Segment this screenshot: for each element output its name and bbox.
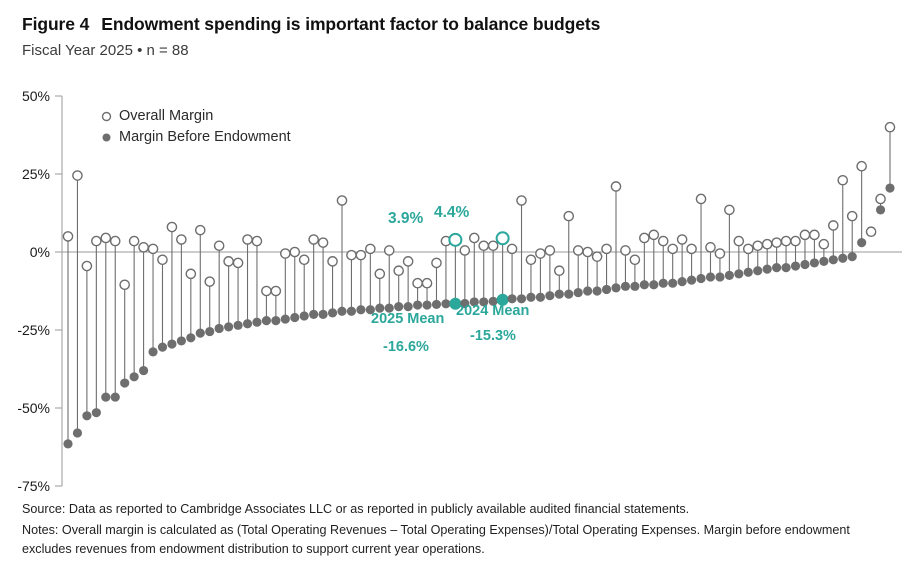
highlighted-overall-margin-point bbox=[449, 234, 461, 246]
margin-before-endowment-point bbox=[177, 336, 186, 345]
overall-margin-point bbox=[885, 123, 894, 132]
margin-before-endowment-point bbox=[262, 316, 271, 325]
y-axis-tick-label: -25% bbox=[17, 322, 50, 338]
overall-margin-point bbox=[800, 230, 809, 239]
annotation-2024-mean-value: -15.3% bbox=[470, 328, 516, 344]
overall-margin-point bbox=[725, 205, 734, 214]
overall-margin-point bbox=[422, 279, 431, 288]
figure-subtitle: Fiscal Year 2025 • n = 88 bbox=[22, 42, 902, 59]
overall-margin-point bbox=[848, 212, 857, 221]
overall-margin-point bbox=[319, 238, 328, 247]
overall-margin-point bbox=[517, 196, 526, 205]
overall-margin-point bbox=[92, 236, 101, 245]
overall-margin-point bbox=[678, 235, 687, 244]
annotation-2025-mean-value: -16.6% bbox=[383, 339, 429, 355]
margin-before-endowment-point bbox=[611, 283, 620, 292]
overall-margin-point bbox=[300, 255, 309, 264]
margin-before-endowment-point bbox=[687, 275, 696, 284]
overall-margin-point bbox=[63, 232, 72, 241]
overall-margin-point bbox=[819, 240, 828, 249]
source-note: Source: Data as reported to Cambridge As… bbox=[22, 500, 894, 520]
overall-margin-point bbox=[347, 251, 356, 260]
margin-before-endowment-point bbox=[838, 254, 847, 263]
margin-before-endowment-point bbox=[583, 286, 592, 295]
margin-before-endowment-point bbox=[555, 290, 564, 299]
highlighted-overall-margin-point bbox=[497, 232, 509, 244]
margin-before-endowment-point bbox=[441, 299, 450, 308]
margin-before-endowment-point bbox=[309, 310, 318, 319]
margin-before-endowment-point bbox=[593, 286, 602, 295]
overall-margin-point bbox=[734, 236, 743, 245]
margin-before-endowment-point bbox=[848, 252, 857, 261]
margin-before-endowment-point bbox=[196, 329, 205, 338]
overall-margin-point bbox=[715, 249, 724, 258]
overall-margin-point bbox=[555, 266, 564, 275]
margin-before-endowment-point bbox=[696, 274, 705, 283]
filled-circle-icon bbox=[98, 132, 114, 143]
annotation-2024-mean-title: 2024 Mean bbox=[456, 303, 529, 319]
margin-before-endowment-point bbox=[602, 285, 611, 294]
overall-margin-point bbox=[574, 246, 583, 255]
overall-margin-point bbox=[252, 236, 261, 245]
overall-margin-point bbox=[753, 241, 762, 250]
margin-before-endowment-point bbox=[791, 261, 800, 270]
overall-margin-point bbox=[696, 194, 705, 203]
margin-before-endowment-point bbox=[753, 266, 762, 275]
margin-before-endowment-point bbox=[347, 307, 356, 316]
overall-margin-point bbox=[668, 244, 677, 253]
overall-margin-point bbox=[649, 230, 658, 239]
y-axis-tick-label: -50% bbox=[17, 400, 50, 416]
margin-before-endowment-point bbox=[130, 372, 139, 381]
overall-margin-point bbox=[328, 257, 337, 266]
overall-margin-point bbox=[507, 244, 516, 253]
overall-margin-point bbox=[763, 240, 772, 249]
methodology-note: Notes: Overall margin is calculated as (… bbox=[22, 521, 894, 560]
y-axis: 50%25%0%-25%-50%-75% bbox=[17, 88, 62, 494]
margin-before-endowment-point bbox=[630, 282, 639, 291]
margin-before-endowment-point bbox=[668, 279, 677, 288]
overall-margin-point bbox=[148, 244, 157, 253]
overall-margin-point bbox=[526, 255, 535, 264]
margin-before-endowment-point bbox=[186, 333, 195, 342]
overall-margin-point bbox=[309, 235, 318, 244]
margin-before-endowment-point bbox=[564, 290, 573, 299]
margin-before-endowment-point bbox=[271, 316, 280, 325]
open-circle-icon bbox=[98, 111, 114, 122]
overall-margin-point bbox=[460, 246, 469, 255]
chart-legend: Overall Margin Margin Before Endowment bbox=[98, 106, 291, 148]
annotation-2025-overall-margin-value: 3.9% bbox=[388, 210, 423, 228]
overall-margin-point bbox=[139, 243, 148, 252]
y-axis-tick-label: 25% bbox=[22, 166, 50, 182]
overall-margin-point bbox=[271, 286, 280, 295]
overall-margin-point bbox=[356, 251, 365, 260]
margin-before-endowment-point bbox=[404, 302, 413, 311]
figure-header: Figure 4Endowment spending is important … bbox=[22, 14, 902, 59]
margin-before-endowment-point bbox=[526, 293, 535, 302]
legend-item-margin-before-endowment: Margin Before Endowment bbox=[98, 127, 291, 148]
overall-margin-point bbox=[810, 230, 819, 239]
margin-before-endowment-point bbox=[810, 258, 819, 267]
margin-before-endowment-point bbox=[111, 392, 120, 401]
overall-margin-point bbox=[630, 255, 639, 264]
overall-margin-point bbox=[337, 196, 346, 205]
overall-margin-point bbox=[687, 244, 696, 253]
overall-margin-point bbox=[130, 236, 139, 245]
overall-margin-point bbox=[867, 227, 876, 236]
overall-margin-point bbox=[583, 247, 592, 256]
margin-before-endowment-point bbox=[800, 260, 809, 269]
margin-before-endowment-point bbox=[120, 378, 129, 387]
overall-margin-point bbox=[706, 243, 715, 252]
overall-margin-point bbox=[621, 246, 630, 255]
margin-before-endowment-point bbox=[328, 308, 337, 317]
margin-before-endowment-point bbox=[734, 269, 743, 278]
y-axis-tick-label: 50% bbox=[22, 88, 50, 104]
margin-before-endowment-point bbox=[224, 322, 233, 331]
overall-margin-point bbox=[215, 241, 224, 250]
overall-margin-point bbox=[73, 171, 82, 180]
margin-before-endowment-point bbox=[233, 321, 242, 330]
margin-before-endowment-point bbox=[536, 293, 545, 302]
overall-margin-point bbox=[375, 269, 384, 278]
margin-before-endowment-point bbox=[356, 305, 365, 314]
overall-margin-point bbox=[772, 238, 781, 247]
margin-before-endowment-point bbox=[63, 439, 72, 448]
figure-notes: Source: Data as reported to Cambridge As… bbox=[22, 500, 894, 561]
margin-before-endowment-point bbox=[413, 300, 422, 309]
margin-before-endowment-point bbox=[829, 255, 838, 264]
legend-label-overall-margin: Overall Margin bbox=[119, 106, 213, 127]
margin-before-endowment-point bbox=[290, 313, 299, 322]
overall-margin-point bbox=[744, 244, 753, 253]
overall-margin-point bbox=[281, 249, 290, 258]
overall-margin-point bbox=[479, 241, 488, 250]
overall-margin-point bbox=[791, 236, 800, 245]
figure-title: Endowment spending is important factor t… bbox=[101, 14, 600, 34]
margin-before-endowment-point bbox=[148, 347, 157, 356]
margin-before-endowment-point bbox=[781, 263, 790, 272]
overall-margin-point bbox=[545, 246, 554, 255]
overall-margin-point bbox=[158, 255, 167, 264]
legend-item-overall-margin: Overall Margin bbox=[98, 106, 291, 127]
margin-before-endowment-point bbox=[243, 319, 252, 328]
overall-margin-point bbox=[432, 258, 441, 267]
y-axis-tick-label: -75% bbox=[17, 478, 50, 494]
annotation-2024-overall-margin-value: 4.4% bbox=[434, 204, 469, 222]
margin-before-endowment-point bbox=[252, 318, 261, 327]
figure-number: Figure 4 bbox=[22, 14, 89, 34]
margin-before-endowment-point bbox=[574, 288, 583, 297]
overall-margin-point bbox=[829, 221, 838, 230]
margin-before-endowment-point bbox=[422, 300, 431, 309]
overall-margin-point bbox=[404, 257, 413, 266]
margin-before-endowment-point bbox=[678, 277, 687, 286]
margin-before-endowment-point bbox=[101, 392, 110, 401]
margin-before-endowment-point bbox=[215, 324, 224, 333]
margin-before-endowment-point bbox=[82, 411, 91, 420]
overall-margin-point bbox=[177, 235, 186, 244]
overall-margin-point bbox=[536, 249, 545, 258]
margin-before-endowment-point bbox=[205, 327, 214, 336]
margin-before-endowment-point bbox=[885, 183, 894, 192]
margin-before-endowment-point bbox=[300, 311, 309, 320]
margin-before-endowment-point bbox=[158, 343, 167, 352]
overall-margin-point bbox=[593, 252, 602, 261]
margin-before-endowment-point bbox=[432, 300, 441, 309]
overall-margin-point bbox=[489, 241, 498, 250]
overall-margin-point bbox=[111, 236, 120, 245]
margin-before-endowment-point bbox=[167, 339, 176, 348]
overall-margin-point bbox=[262, 286, 271, 295]
margin-before-endowment-point bbox=[763, 265, 772, 274]
overall-margin-point bbox=[611, 182, 620, 191]
overall-margin-point bbox=[120, 280, 129, 289]
overall-margin-point bbox=[82, 261, 91, 270]
margin-before-endowment-point bbox=[337, 307, 346, 316]
margin-before-endowment-point bbox=[744, 268, 753, 277]
overall-margin-point bbox=[659, 236, 668, 245]
figure-page: Figure 4Endowment spending is important … bbox=[0, 0, 912, 577]
margin-before-endowment-point bbox=[857, 238, 866, 247]
overall-margin-point bbox=[233, 258, 242, 267]
overall-margin-point bbox=[640, 233, 649, 242]
margin-before-endowment-point bbox=[876, 205, 885, 214]
margin-before-endowment-point bbox=[139, 366, 148, 375]
margin-before-endowment-point bbox=[319, 310, 328, 319]
margin-before-endowment-point bbox=[772, 263, 781, 272]
overall-margin-point bbox=[205, 277, 214, 286]
overall-margin-point bbox=[224, 257, 233, 266]
annotation-2025-mean-title: 2025 Mean bbox=[371, 311, 444, 327]
overall-margin-point bbox=[186, 269, 195, 278]
overall-margin-point bbox=[366, 244, 375, 253]
overall-margin-point bbox=[196, 226, 205, 235]
margin-before-endowment-point bbox=[394, 302, 403, 311]
margin-before-endowment-point bbox=[621, 282, 630, 291]
overall-margin-point bbox=[470, 233, 479, 242]
overall-margin-point bbox=[876, 194, 885, 203]
overall-margin-point bbox=[857, 162, 866, 171]
page-title: Figure 4Endowment spending is important … bbox=[22, 14, 902, 35]
margin-before-endowment-point bbox=[725, 271, 734, 280]
margin-before-endowment-point bbox=[92, 408, 101, 417]
margin-before-endowment-point bbox=[715, 272, 724, 281]
margin-before-endowment-point bbox=[640, 280, 649, 289]
overall-margin-point bbox=[101, 233, 110, 242]
margin-before-endowment-point bbox=[659, 279, 668, 288]
overall-margin-point bbox=[838, 176, 847, 185]
overall-margin-point bbox=[290, 247, 299, 256]
margin-before-endowment-point bbox=[545, 291, 554, 300]
overall-margin-point bbox=[385, 246, 394, 255]
stem-lines bbox=[68, 127, 890, 444]
margin-before-endowment-point bbox=[706, 272, 715, 281]
overall-margin-point bbox=[243, 235, 252, 244]
overall-margin-point bbox=[781, 236, 790, 245]
margin-before-endowment-point bbox=[649, 280, 658, 289]
margin-before-endowment-point bbox=[819, 257, 828, 266]
legend-label-margin-before-endowment: Margin Before Endowment bbox=[119, 127, 291, 148]
y-axis-tick-label: 0% bbox=[30, 244, 50, 260]
overall-margin-point bbox=[602, 244, 611, 253]
overall-margin-point bbox=[564, 212, 573, 221]
margin-before-endowment-point bbox=[281, 314, 290, 323]
margin-before-endowment-point bbox=[73, 428, 82, 437]
overall-margin-point bbox=[394, 266, 403, 275]
overall-margin-point bbox=[167, 222, 176, 231]
overall-margin-point bbox=[413, 279, 422, 288]
